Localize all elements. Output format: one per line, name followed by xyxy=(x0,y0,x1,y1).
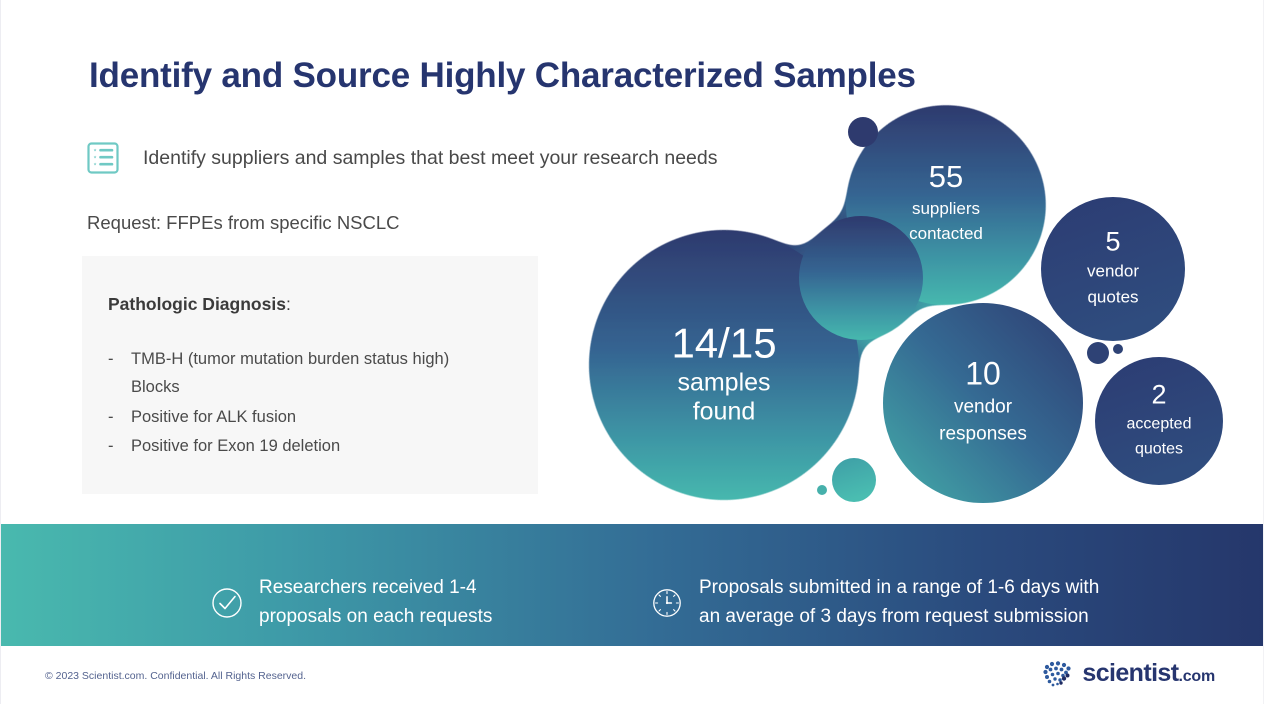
page-title: Identify and Source Highly Characterized… xyxy=(89,56,916,96)
clock-icon xyxy=(651,587,683,619)
brain-dots-icon xyxy=(1040,658,1076,688)
card-heading-colon: : xyxy=(286,294,291,314)
list-item-text: Positive for ALK fusion xyxy=(131,403,296,431)
bullet-marker: - xyxy=(108,403,131,431)
banner-text: Proposals submitted in a range of 1-6 da… xyxy=(699,574,1099,631)
decor-dot-teal-big xyxy=(832,458,876,502)
blob-connector xyxy=(799,216,923,340)
checklist-icon xyxy=(85,140,121,176)
list-item-text: Positive for Exon 19 deletion xyxy=(131,432,340,460)
decor-dot-navy-mid xyxy=(1087,342,1109,364)
request-line: Request: FFPEs from specific NSCLC xyxy=(87,212,400,234)
card-heading-label: Pathologic Diagnosis xyxy=(108,294,286,314)
bubble-chart-svg xyxy=(561,100,1241,520)
copyright-text: © 2023 Scientist.com. Confidential. All … xyxy=(45,670,306,682)
decor-dot-teal-small xyxy=(817,485,827,495)
list-item: - Positive for Exon 19 deletion xyxy=(108,432,512,460)
summary-banner: Researchers received 1-4 proposals on ea… xyxy=(1,524,1264,646)
bubble-chart: 14/15 samples found 55 suppliers contact… xyxy=(561,100,1241,520)
banner-item-proposal-timing: Proposals submitted in a range of 1-6 da… xyxy=(651,574,1099,631)
pathologic-diagnosis-card: Pathologic Diagnosis: - TMB-H (tumor mut… xyxy=(82,256,538,494)
bubble-vendor-quotes xyxy=(1041,197,1185,341)
list-item: - Positive for ALK fusion xyxy=(108,403,512,431)
bullet-marker: - xyxy=(108,432,131,460)
list-item: - TMB-H (tumor mutation burden status hi… xyxy=(108,345,512,402)
logo-wordmark: scientist.com xyxy=(1082,659,1215,688)
bubble-accepted-quotes xyxy=(1095,357,1223,485)
card-heading: Pathologic Diagnosis: xyxy=(108,294,512,315)
decor-dot-navy-top xyxy=(848,117,878,147)
check-circle-icon xyxy=(211,587,243,619)
banner-text: Researchers received 1-4 proposals on ea… xyxy=(259,574,492,631)
decor-dot-navy-small xyxy=(1113,344,1123,354)
logo-tld: .com xyxy=(1178,668,1215,685)
logo-name: scientist xyxy=(1082,659,1178,687)
bullet-marker: - xyxy=(108,345,131,402)
list-item-text: TMB-H (tumor mutation burden status high… xyxy=(131,345,491,402)
bubble-vendor-responses xyxy=(883,303,1083,503)
banner-item-proposals-received: Researchers received 1-4 proposals on ea… xyxy=(211,574,492,631)
diagnosis-bullet-list: - TMB-H (tumor mutation burden status hi… xyxy=(108,345,512,461)
slide-canvas: Identify and Source Highly Characterized… xyxy=(0,0,1264,704)
scientist-logo: scientist.com xyxy=(1040,658,1215,688)
